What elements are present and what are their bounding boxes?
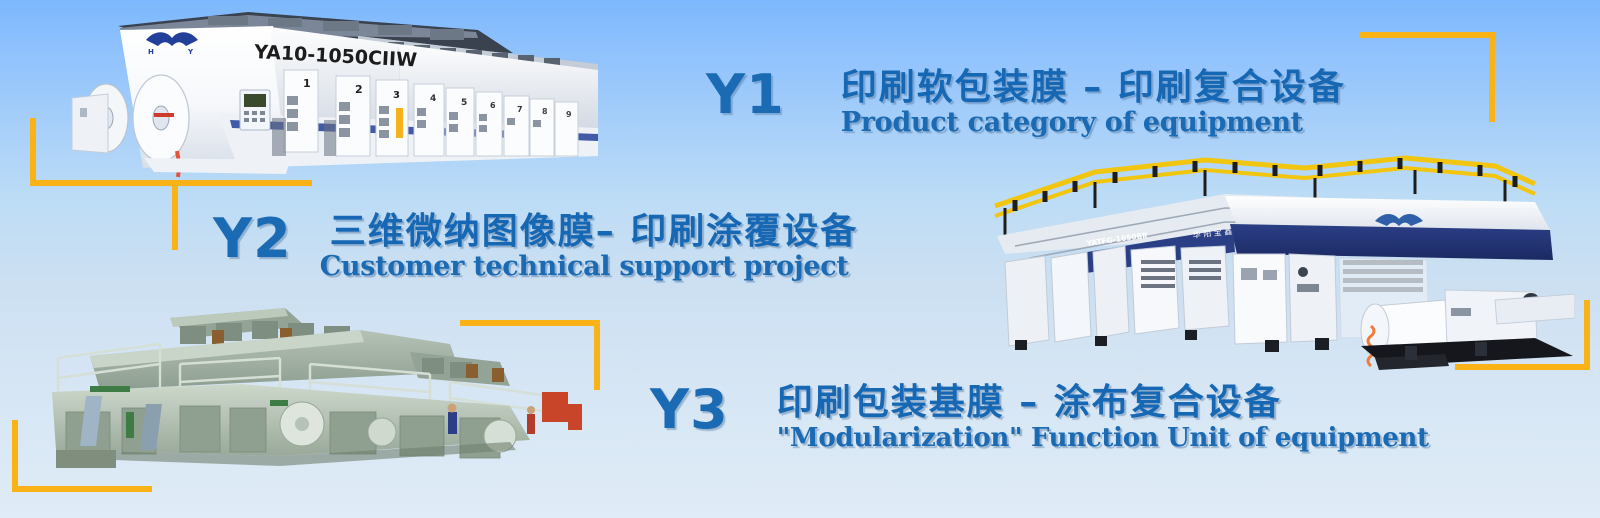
section-code-y1: Y1 — [706, 68, 785, 122]
section-title-en-y2: Customer technical support project — [320, 252, 859, 282]
bracket-top-right — [1360, 32, 1495, 122]
section-title-en-y3: "Modularization" Function Unit of equipm… — [777, 423, 1429, 453]
svg-text:5: 5 — [461, 98, 467, 108]
section-texts-y2: 三维微纳图像膜– 印刷涂覆设备 Customer technical suppo… — [330, 212, 859, 282]
svg-text:3: 3 — [393, 90, 400, 101]
svg-text:Y: Y — [187, 48, 194, 56]
svg-text:4: 4 — [430, 94, 436, 104]
svg-text:1: 1 — [303, 77, 311, 90]
section-code-y3: Y3 — [650, 383, 729, 437]
section-row-y2: Y2 三维微纳图像膜– 印刷涂覆设备 Customer technical su… — [213, 212, 858, 282]
svg-text:7: 7 — [517, 105, 523, 114]
equipment-banner: H Y YA10-1050CIIW — [0, 0, 1600, 518]
section-title-cn-y2: 三维微纳图像膜– 印刷涂覆设备 — [330, 212, 859, 252]
section-title-cn-y3: 印刷包装基膜 – 涂布复合设备 — [777, 383, 1429, 423]
section-row-y1: Y1 印刷软包装膜 – 印刷复合设备 Product category of e… — [706, 68, 1346, 138]
svg-text:9: 9 — [566, 110, 572, 119]
section-texts-y3: 印刷包装基膜 – 涂布复合设备 "Modularization" Functio… — [777, 383, 1429, 453]
section-title-cn-y1: 印刷软包装膜 – 印刷复合设备 — [841, 68, 1346, 108]
svg-text:8: 8 — [542, 107, 548, 116]
section-texts-y1: 印刷软包装膜 – 印刷复合设备 Product category of equi… — [841, 68, 1346, 138]
svg-text:6: 6 — [490, 101, 496, 110]
bracket-middle-right — [1455, 300, 1590, 370]
svg-text:2: 2 — [355, 83, 363, 96]
bracket-top-left — [30, 118, 210, 186]
section-row-y3: Y3 印刷包装基膜 – 涂布复合设备 "Modularization" Func… — [650, 383, 1429, 453]
bracket-bottom-left — [12, 420, 152, 492]
section-title-en-y1: Product category of equipment — [841, 108, 1346, 138]
section-code-y2: Y2 — [213, 212, 292, 266]
svg-text:H: H — [148, 48, 154, 56]
bracket-y3-connector — [460, 320, 600, 390]
